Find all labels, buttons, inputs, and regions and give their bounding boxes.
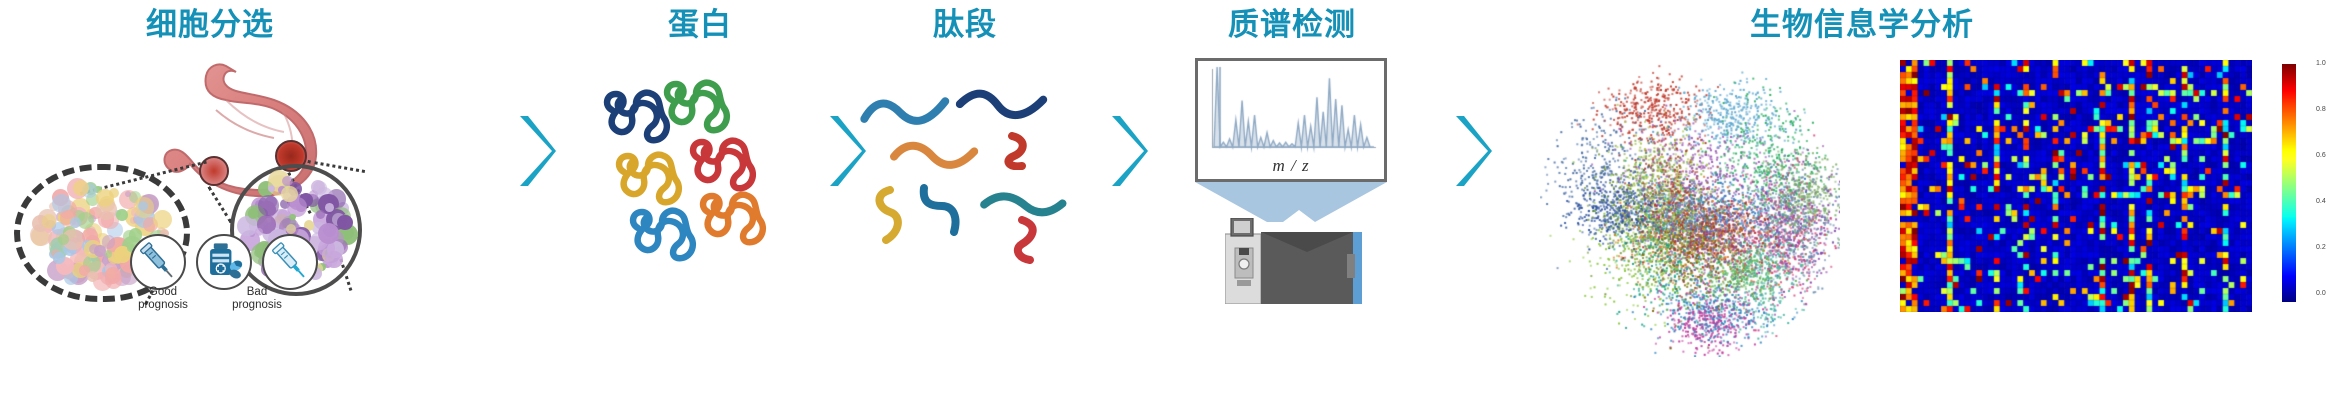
peptide-strand-4 (1002, 132, 1064, 175)
heatmap-canvas (1900, 60, 2252, 312)
stage-title-cell-sorting: 细胞分选 (60, 4, 360, 46)
good-prognosis-label: Good prognosis (126, 286, 200, 312)
cell-cluster-scatter-plot (1540, 62, 1840, 357)
tsne-canvas (1540, 62, 1840, 357)
arrow-3-icon (1106, 112, 1150, 190)
peptide-strand-6 (916, 182, 978, 241)
peptide-strand-3 (889, 136, 978, 178)
protein-illustration (600, 70, 800, 260)
proteomics-workflow-figure: 细胞分选 蛋白 肽段 质谱检测 生物信息学分析 (0, 0, 2332, 402)
good-prognosis-line-2: prognosis (126, 299, 200, 312)
syringe-icon-circle-1 (130, 234, 186, 290)
mz-axis-label: m / z (1198, 156, 1384, 176)
medicine-bottle-icon-circle (196, 234, 252, 290)
stage-title-protein: 蛋白 (600, 4, 800, 46)
mass-spec-illustration: m / z (1185, 58, 1400, 358)
protein-knot-6 (628, 198, 706, 260)
syringe-icon-circle-2 (262, 234, 318, 290)
bad-prognosis-line-2: prognosis (220, 299, 294, 312)
cell-sorting-illustration: Good prognosis Bad prognosis (8, 52, 360, 320)
colorbar-tick: 0.2 (2316, 244, 2326, 251)
colorbar-tick: 1.0 (2316, 60, 2326, 67)
peptide-strand-1 (859, 91, 953, 136)
heatmap-colorbar (2282, 64, 2296, 302)
arrow-1-icon (514, 112, 558, 190)
stage-title-mass-spec: 质谱检测 (1162, 4, 1422, 46)
good-prognosis-line-1: Good (126, 286, 200, 299)
peptide-strand-2 (954, 80, 1051, 131)
colorbar-tick: 0.4 (2316, 198, 2326, 205)
peptide-illustration (860, 80, 1075, 260)
bad-prognosis-label: Bad prognosis (220, 286, 294, 312)
peptide-strand-5 (860, 186, 914, 249)
mass-spectrometer-icon (1225, 218, 1365, 304)
peptide-strand-8 (1010, 216, 1068, 269)
mass-spectrum-display: m / z (1195, 58, 1387, 182)
colorbar-tick-labels: 1.00.80.60.40.20.0 (2298, 60, 2312, 298)
colorbar-tick: 0.6 (2316, 152, 2326, 159)
arrow-4-icon (1450, 112, 1494, 190)
colorbar-tick: 0.0 (2316, 290, 2326, 297)
protein-knot-2 (662, 70, 740, 132)
mass-spectrum-chart (1198, 61, 1384, 157)
stage-title-peptide: 肽段 (865, 4, 1065, 46)
expression-heatmap: 1.00.80.60.40.20.0 (1900, 60, 2312, 350)
stage-title-bioinformatics: 生物信息学分析 (1632, 4, 2092, 46)
protein-knot-3 (688, 128, 766, 190)
protein-knot-4 (614, 142, 692, 204)
colorbar-tick: 0.8 (2316, 106, 2326, 113)
protein-knot-5 (698, 182, 776, 244)
ion-beam-icon (1195, 182, 1387, 222)
bad-prognosis-line-1: Bad (220, 286, 294, 299)
